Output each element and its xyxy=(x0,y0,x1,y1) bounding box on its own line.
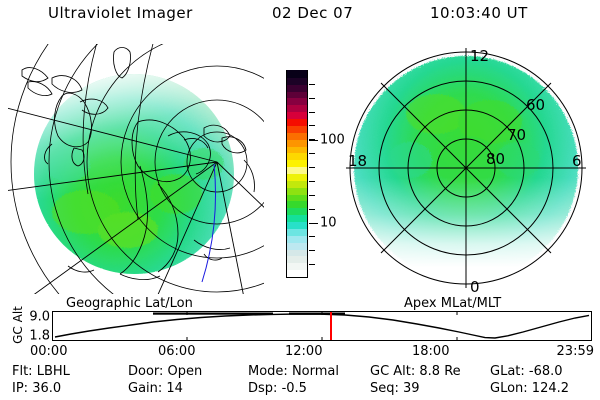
colorbar-segment xyxy=(287,91,307,99)
orbit-apogee-bar-2 xyxy=(289,313,345,315)
colorbar-segment xyxy=(287,146,307,154)
colorbar-minor-tick xyxy=(309,195,315,196)
status-field-label: GLat: xyxy=(490,364,529,379)
status-field-label: Gain: xyxy=(128,381,166,396)
colorbar-gradient xyxy=(286,70,308,278)
orbit-ytick-low: 1.8 xyxy=(16,330,50,343)
status-field-label: Seq: xyxy=(370,381,403,396)
instrument-title: Ultraviolet Imager xyxy=(48,4,193,22)
status-field-value: 36.0 xyxy=(32,381,61,396)
colorbar-minor-tick xyxy=(309,264,315,265)
colorbar-minor-tick xyxy=(309,112,315,113)
colorbar-segment xyxy=(287,256,307,264)
status-panel: Flt: LBHLDoor: OpenMode: NormalGC Alt: 8… xyxy=(8,364,596,398)
colorbar-segment xyxy=(287,249,307,257)
mlat-label-80: 80 xyxy=(486,150,505,168)
status-field-value: Open xyxy=(168,364,203,379)
apex-plot-svg: 12 6 0 18 60 70 80 xyxy=(340,42,592,294)
status-field: GLon: 124.2 xyxy=(490,381,569,396)
status-field: GLat: -68.0 xyxy=(490,364,563,379)
colorbar-segment xyxy=(287,201,307,209)
colorbar-minor-tick xyxy=(309,236,315,237)
orbit-xtick-label: 23:59 xyxy=(557,344,594,359)
colorbar-segment xyxy=(287,139,307,147)
colorbar-segment xyxy=(287,77,307,85)
orbit-xtick-label: 12:00 xyxy=(285,344,322,359)
observation-time: 10:03:40 UT xyxy=(430,4,528,22)
colorbar-segments xyxy=(287,71,307,277)
colorbar-segment xyxy=(287,159,307,167)
observation-date: 02 Dec 07 xyxy=(272,4,353,22)
colorbar-segment xyxy=(287,262,307,270)
status-field-value: 39 xyxy=(403,381,420,396)
mlat-label-60: 60 xyxy=(526,96,545,114)
colorbar-segment xyxy=(287,125,307,133)
colorbar-segment xyxy=(287,269,307,277)
status-field-label: GLon: xyxy=(490,381,532,396)
status-field: Dsp: -0.5 xyxy=(248,381,307,396)
orbit-altitude-strip[interactable] xyxy=(52,311,592,341)
colorbar-segment xyxy=(287,118,307,126)
colorbar-minor-tick xyxy=(309,209,315,210)
colorbar-segment xyxy=(287,132,307,140)
colorbar-minor-tick xyxy=(309,125,315,126)
colorbar-minor-tick xyxy=(309,167,315,168)
colorbar-minor-tick xyxy=(309,181,315,182)
colorbar-segment xyxy=(287,242,307,250)
status-field-label: Mode: xyxy=(248,364,292,379)
colorbar-minor-tick xyxy=(309,98,315,99)
status-field-label: Dsp: xyxy=(248,381,282,396)
colorbar-tick-label: 10 xyxy=(320,216,337,229)
colorbar-segment xyxy=(287,111,307,119)
mlt-label-6: 6 xyxy=(572,152,582,170)
status-field-value: LBHL xyxy=(37,364,70,379)
status-field-value: 14 xyxy=(166,381,183,396)
colorbar-major-tick xyxy=(309,223,318,224)
colorbar-minor-tick xyxy=(309,84,315,85)
status-field-value: Normal xyxy=(292,364,339,379)
header-bar: Ultraviolet Imager 02 Dec 07 10:03:40 UT xyxy=(0,4,600,32)
orbit-apogee-bar xyxy=(153,313,273,315)
colorbar-segment xyxy=(287,98,307,106)
uvi-display: Ultraviolet Imager 02 Dec 07 10:03:40 UT xyxy=(0,0,600,400)
apex-plot[interactable]: 12 6 0 18 60 70 80 xyxy=(340,42,592,294)
colorbar-segment xyxy=(287,180,307,188)
geographic-plot-svg xyxy=(8,44,264,294)
status-field: Gain: 14 xyxy=(128,381,183,396)
status-field-value: 8.8 Re xyxy=(419,364,460,379)
mlat-label-70: 70 xyxy=(507,126,526,144)
colorbar-segment xyxy=(287,221,307,229)
geographic-plot-subtitle: Geographic Lat/Lon xyxy=(66,296,193,311)
colorbar-segment xyxy=(287,173,307,181)
orbit-ytick-high: 9.0 xyxy=(16,311,50,324)
orbit-xtick-label: 00:00 xyxy=(30,344,67,359)
orbit-altitude-trace xyxy=(55,314,589,338)
mlt-label-12: 12 xyxy=(470,47,489,65)
status-field: Mode: Normal xyxy=(248,364,339,379)
apex-plot-subtitle: Apex MLat/MLT xyxy=(404,296,501,311)
geographic-plot[interactable] xyxy=(8,44,264,294)
orbit-altitude-svg xyxy=(53,312,591,340)
colorbar-segment xyxy=(287,187,307,195)
status-field-value: 124.2 xyxy=(532,381,569,396)
colorbar-segment xyxy=(287,214,307,222)
colorbar-minor-tick xyxy=(309,250,315,251)
mlt-label-18: 18 xyxy=(348,152,367,170)
colorbar-segment xyxy=(287,70,307,78)
colorbar-minor-tick xyxy=(309,153,315,154)
status-field: Seq: 39 xyxy=(370,381,420,396)
apex-grid xyxy=(346,48,586,288)
colorbar-segment xyxy=(287,235,307,243)
status-field: GC Alt: 8.8 Re xyxy=(370,364,461,379)
colorbar-major-tick xyxy=(309,140,318,141)
colorbar: photon cm-2s-1 10010 xyxy=(264,58,344,290)
colorbar-segment xyxy=(287,84,307,92)
orbit-xtick-label: 06:00 xyxy=(158,344,195,359)
colorbar-segment xyxy=(287,228,307,236)
status-field-label: GC Alt: xyxy=(370,364,419,379)
colorbar-segment xyxy=(287,208,307,216)
status-field-label: IP: xyxy=(12,381,32,396)
colorbar-segment xyxy=(287,166,307,174)
status-field-label: Door: xyxy=(128,364,168,379)
colorbar-segment xyxy=(287,153,307,161)
status-field: Flt: LBHL xyxy=(12,364,70,379)
orbit-xtick-label: 18:00 xyxy=(412,344,449,359)
status-field: IP: 36.0 xyxy=(12,381,61,396)
status-field-value: -68.0 xyxy=(529,364,563,379)
status-field: Door: Open xyxy=(128,364,202,379)
mlt-label-0: 0 xyxy=(470,278,480,294)
status-field-value: -0.5 xyxy=(282,381,307,396)
colorbar-segment xyxy=(287,105,307,113)
status-field-label: Flt: xyxy=(12,364,37,379)
colorbar-segment xyxy=(287,194,307,202)
